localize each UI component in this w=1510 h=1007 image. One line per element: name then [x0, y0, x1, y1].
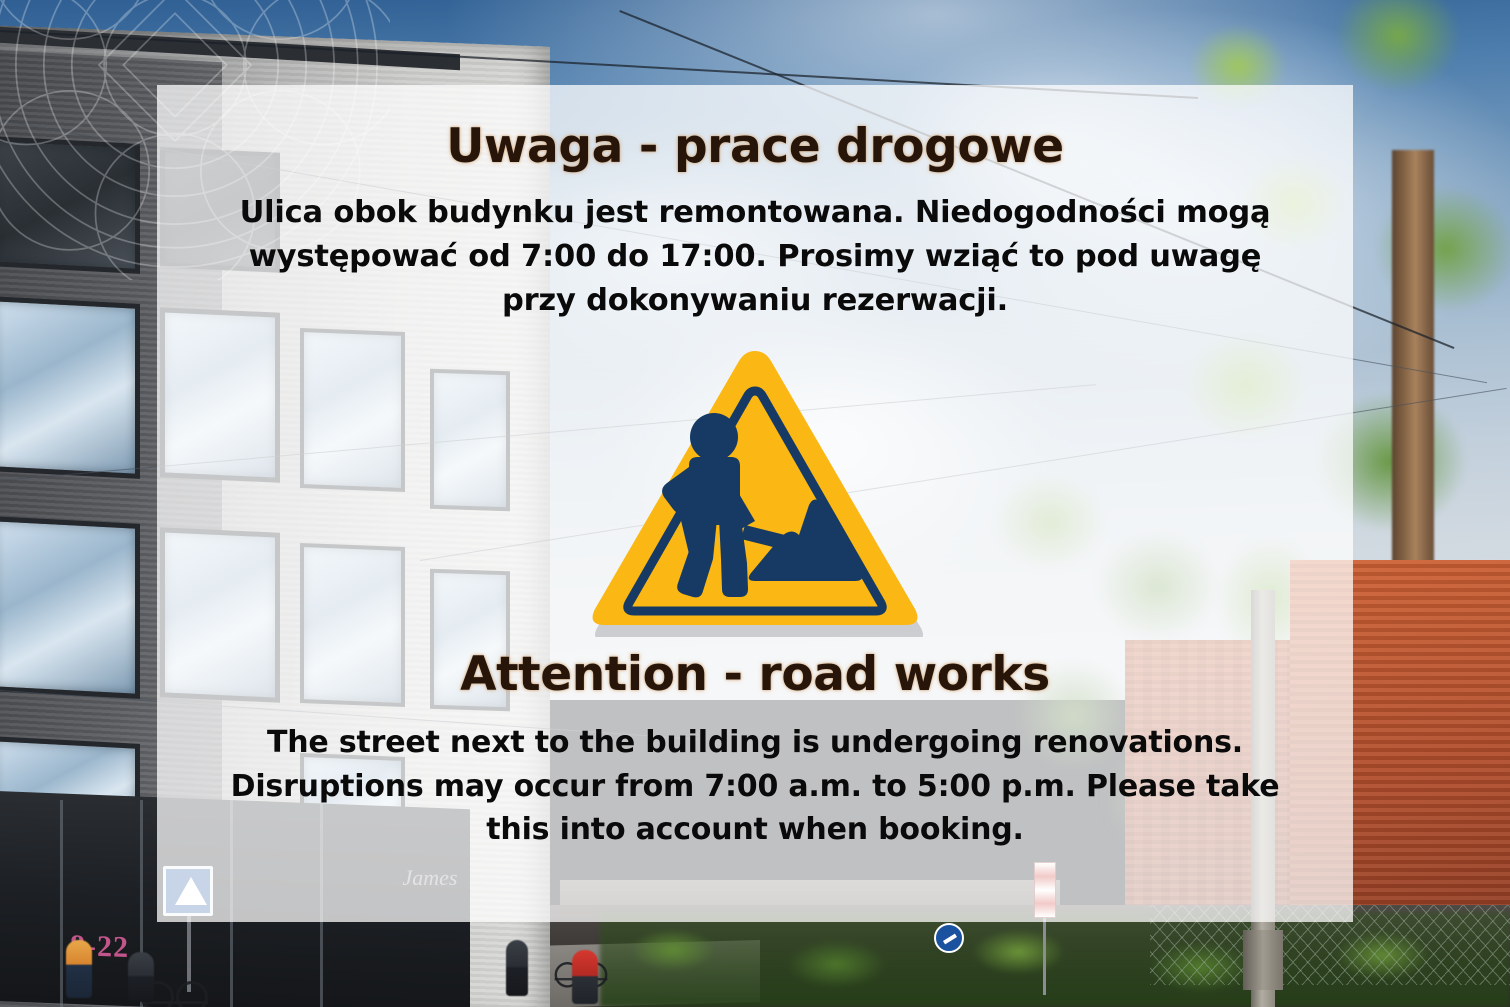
road-works-warning-sign-icon: [585, 337, 925, 637]
window: [0, 296, 140, 479]
window: [0, 516, 140, 699]
notice-banner: 8-22 James: [0, 0, 1510, 1007]
lamp-post-base: [1243, 930, 1283, 990]
polish-title: Uwaga - prace drogowe: [446, 121, 1063, 173]
polish-body-text: Ulica obok budynku jest remontowana. Nie…: [225, 191, 1285, 324]
english-title: Attention - road works: [460, 649, 1050, 701]
window: [0, 136, 140, 274]
notice-content: Uwaga - prace drogowe Ulica obok budynku…: [157, 85, 1353, 922]
no-parking-sign-icon: [934, 923, 964, 953]
storefront-mullion: [60, 800, 63, 1007]
english-body-text: The street next to the building is under…: [225, 721, 1285, 852]
pedestrian: [572, 950, 598, 1004]
pedestrian: [128, 952, 154, 1002]
pedestrian: [66, 940, 92, 998]
pedestrian: [506, 940, 528, 996]
